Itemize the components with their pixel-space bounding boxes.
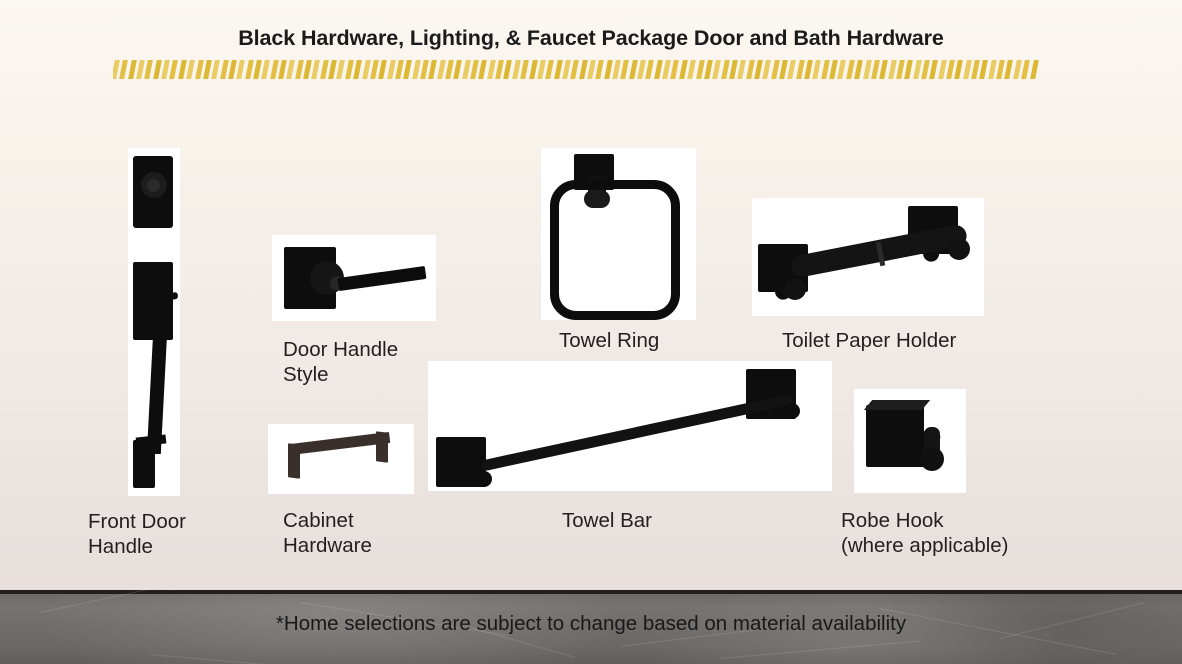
gold-tick [170, 60, 179, 79]
gold-tick [771, 60, 780, 79]
cabinet-pull-left-leg-icon [288, 443, 300, 478]
slide-canvas: Black Hardware, Lighting, & Faucet Packa… [0, 0, 1182, 664]
gold-tick [754, 60, 763, 79]
robe-hook-plate-bevel-icon [864, 400, 930, 410]
toilet-paper-holder-panel [752, 198, 984, 316]
gold-tick [671, 60, 680, 79]
caption-robe-hook: Robe Hook (where applicable) [841, 508, 1101, 558]
gold-tick [838, 60, 847, 79]
gold-tick [529, 60, 538, 79]
gold-tick [846, 60, 855, 79]
gold-tick [1013, 60, 1022, 79]
gold-tick [988, 60, 997, 79]
gold-tick [537, 60, 546, 79]
cabinet-pull-right-leg-icon [376, 431, 388, 462]
gold-tick [762, 60, 771, 79]
gold-tick [236, 60, 245, 79]
door-handle-style-panel [272, 235, 436, 321]
gold-tick [320, 60, 329, 79]
gold-tick [554, 60, 563, 79]
deadbolt-keyway-icon [147, 179, 160, 192]
gold-tick [863, 60, 872, 79]
lever-arm-icon [338, 266, 427, 291]
robe-hook-knob-icon [920, 447, 944, 471]
gold-tick [504, 60, 513, 79]
gold-tick [270, 60, 279, 79]
caption-towel-bar: Towel Bar [562, 508, 782, 533]
gold-tick [620, 60, 629, 79]
gold-tick [904, 60, 913, 79]
gold-tick [378, 60, 387, 79]
gold-tick [921, 60, 930, 79]
gold-tick [395, 60, 404, 79]
gold-tick [787, 60, 796, 79]
towel-bar-right-cap-icon [784, 403, 800, 419]
gold-tick [1021, 60, 1030, 79]
page-title: Black Hardware, Lighting, & Faucet Packa… [0, 26, 1182, 51]
gold-tick [938, 60, 947, 79]
gold-tick [295, 60, 304, 79]
gold-tick [362, 60, 371, 79]
gold-tick [629, 60, 638, 79]
gold-tick [203, 60, 212, 79]
tp-roller-right-cap-icon [948, 238, 970, 260]
gold-tick [604, 60, 613, 79]
gold-tick [729, 60, 738, 79]
gold-tick [737, 60, 746, 79]
gold-tick [186, 60, 195, 79]
gold-tick [545, 60, 554, 79]
gold-tick [453, 60, 462, 79]
gold-tick [712, 60, 721, 79]
gold-tick [345, 60, 354, 79]
gold-tick [704, 60, 713, 79]
gold-tick [879, 60, 888, 79]
caption-cabinet-hardware: Cabinet Hardware [283, 508, 483, 558]
gold-tick [696, 60, 705, 79]
gold-tick [437, 60, 446, 79]
gold-tick [353, 60, 362, 79]
gold-tick [119, 60, 128, 79]
stone-texture-scratch [40, 579, 197, 613]
gold-tick [896, 60, 905, 79]
towel-ring-panel [541, 148, 696, 320]
caption-front-door-handle: Front Door Handle [88, 509, 268, 559]
gold-tick [746, 60, 755, 79]
gold-tick [687, 60, 696, 79]
front-door-deadbolt-panel [128, 148, 180, 266]
gold-tick [220, 60, 229, 79]
gold-tick [512, 60, 521, 79]
tp-roller-left-cap-icon [784, 278, 806, 300]
stone-texture-scratch [150, 654, 280, 664]
handle-lower-plate-icon [133, 440, 155, 488]
gold-tick [1030, 60, 1039, 79]
gold-tick [370, 60, 379, 79]
gold-tick [253, 60, 262, 79]
gold-tick [337, 60, 346, 79]
gold-tick [813, 60, 822, 79]
gold-tick [796, 60, 805, 79]
gold-tick [587, 60, 596, 79]
gold-tick [286, 60, 295, 79]
towel-ring-loop-icon [550, 180, 680, 320]
gold-tick [153, 60, 162, 79]
gold-tick [821, 60, 830, 79]
gold-tick [261, 60, 270, 79]
cabinet-hardware-panel [268, 424, 414, 494]
towel-bar-left-cap-icon [476, 471, 492, 487]
gold-divider-rule [113, 60, 1042, 79]
gold-tick [980, 60, 989, 79]
gold-tick [963, 60, 972, 79]
towel-bar-rod-icon [480, 394, 793, 472]
gold-tick [211, 60, 220, 79]
gold-tick [420, 60, 429, 79]
gold-tick [487, 60, 496, 79]
caption-toilet-paper-holder: Toilet Paper Holder [782, 328, 1082, 353]
towel-bar-panel [428, 361, 832, 491]
gold-tick [245, 60, 254, 79]
gold-tick [312, 60, 321, 79]
gold-tick [721, 60, 730, 79]
gold-tick [913, 60, 922, 79]
gold-tick [654, 60, 663, 79]
gold-tick [579, 60, 588, 79]
caption-towel-ring: Towel Ring [559, 328, 799, 353]
gold-tick [479, 60, 488, 79]
gold-tick [1005, 60, 1014, 79]
gold-tick [595, 60, 604, 79]
gold-tick [387, 60, 396, 79]
footer-note: *Home selections are subject to change b… [0, 612, 1182, 636]
gold-tick [195, 60, 204, 79]
gold-tick [871, 60, 880, 79]
gold-tick [929, 60, 938, 79]
gold-tick [178, 60, 187, 79]
gold-tick [228, 60, 237, 79]
gold-tick [462, 60, 471, 79]
gold-tick [145, 60, 154, 79]
gold-tick [888, 60, 897, 79]
gold-tick [520, 60, 529, 79]
gold-tick [562, 60, 571, 79]
gold-tick [428, 60, 437, 79]
gold-tick [954, 60, 963, 79]
stone-texture-scratch [720, 641, 919, 659]
gold-tick [128, 60, 137, 79]
gold-tick [412, 60, 421, 79]
gold-tick [403, 60, 412, 79]
gold-tick [646, 60, 655, 79]
gold-tick [679, 60, 688, 79]
gold-tick [570, 60, 579, 79]
front-door-handle-panel [128, 254, 180, 496]
robe-hook-panel [854, 389, 966, 493]
gold-tick [854, 60, 863, 79]
